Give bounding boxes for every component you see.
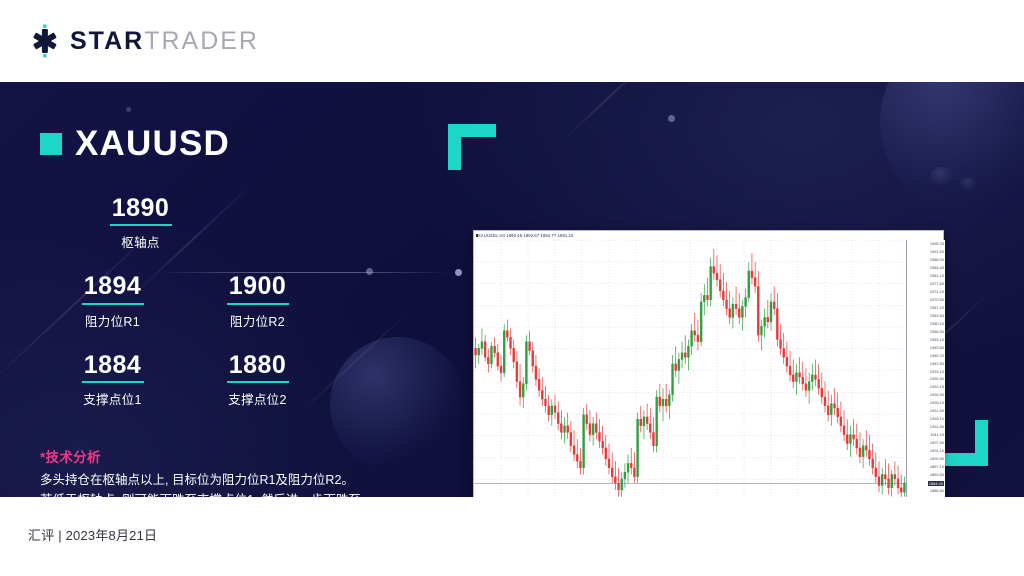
page-footer: 汇评 | 2023年8月21日	[0, 497, 1024, 576]
brand-name-light: TRADER	[144, 29, 259, 54]
level-value: 1894	[40, 273, 185, 299]
decor-dot	[668, 115, 675, 122]
levels-row-pivot: 1890 枢轴点	[40, 195, 330, 251]
price-tick-label: 1907.50	[930, 440, 944, 445]
level-underline	[82, 381, 144, 383]
chart-plot-area[interactable]	[474, 240, 906, 497]
price-tick-label: 1918.10	[930, 416, 944, 421]
decor-crater	[930, 167, 956, 185]
brand-name-bold: STAR	[70, 29, 144, 54]
price-tick-label: 1981.10	[930, 273, 944, 278]
level-underline	[227, 303, 289, 305]
price-tick-label: 1960.10	[930, 321, 944, 326]
levels-row-resistance: 1894 阻力位R1 1900 阻力位R2	[40, 273, 330, 329]
candlestick-series	[474, 240, 906, 497]
hero-left-column: XAUUSD 1890 枢轴点 1894 阻力位R1	[40, 126, 440, 497]
price-tick-label: 1904.10	[930, 448, 944, 453]
hero-band: XAUUSD 1890 枢轴点 1894 阻力位R1	[0, 82, 1024, 497]
price-tick-label: 1949.50	[930, 345, 944, 350]
level-label: 支撑点位2	[185, 389, 330, 408]
level-support-1: 1884 支撑点位1	[40, 352, 185, 408]
price-axis: 1995.251991.501988.001984.451981.101977.…	[906, 240, 945, 497]
price-tick-label: 1886.50	[930, 488, 944, 493]
levels-row-support: 1884 支撑点位1 1880 支撑点位2	[40, 352, 330, 408]
symbol-title-row: XAUUSD	[40, 126, 440, 161]
square-bullet-icon	[40, 133, 62, 155]
corner-bracket-top-left	[448, 124, 496, 170]
price-tick-label: 1946.20	[930, 353, 944, 358]
price-tick-label: 1984.45	[930, 265, 944, 270]
level-label: 阻力位R2	[185, 311, 330, 330]
level-underline	[227, 381, 289, 383]
brand-logo: STARTRADER	[28, 24, 259, 58]
price-tick-label: 1963.50	[930, 313, 944, 318]
level-value: 1890	[68, 195, 213, 221]
page-title: XAUUSD	[75, 126, 230, 161]
analysis-line: 若低于枢轴点, 则可能下跌至支撑点位1, 然后进一步下跌至	[40, 490, 412, 497]
level-value: 1900	[185, 273, 330, 299]
level-label: 支撑点位1	[40, 389, 185, 408]
analysis-heading: *技术分析	[40, 446, 412, 466]
price-tick-label: 1974.20	[930, 289, 944, 294]
spacer	[40, 251, 330, 273]
level-pivot: 1890 枢轴点	[68, 195, 213, 251]
analysis-line: 多头持仓在枢轴点以上, 目标位为阻力位R1及阻力位R2。	[40, 470, 412, 490]
price-tick-label: 1967.20	[930, 305, 944, 310]
analysis-block: *技术分析 多头持仓在枢轴点以上, 目标位为阻力位R1及阻力位R2。 若低于枢轴…	[40, 446, 412, 497]
level-value: 1884	[40, 352, 185, 378]
price-tick-label: 1956.50	[930, 329, 944, 334]
corner-bracket-bottom-right	[938, 420, 988, 466]
price-tick-label: 1900.50	[930, 456, 944, 461]
decor-dot	[126, 107, 131, 112]
price-tick-label: 1995.25	[930, 241, 944, 246]
price-tick-label: 1939.10	[930, 369, 944, 374]
decor-crater	[960, 177, 978, 190]
level-underline	[82, 303, 144, 305]
price-tick-label: 1935.50	[930, 376, 944, 381]
price-levels: 1890 枢轴点 1894 阻力位R1 1900 阻力位R2	[40, 195, 330, 408]
decor-connector-node	[455, 269, 462, 276]
level-resistance-2: 1900 阻力位R2	[185, 273, 330, 329]
analysis-body: 多头持仓在枢轴点以上, 目标位为阻力位R1及阻力位R2。 若低于枢轴点, 则可能…	[40, 470, 412, 497]
price-tick-label: 1921.50	[930, 408, 944, 413]
level-support-2: 1880 支撑点位2	[185, 352, 330, 408]
footer-caption: 汇评 | 2023年8月21日	[28, 525, 157, 544]
price-tick-label: 1970.50	[930, 297, 944, 302]
spacer	[40, 330, 330, 352]
level-underline	[110, 224, 172, 226]
page-header: STARTRADER	[0, 0, 1024, 82]
price-tick-label: 1893.50	[930, 472, 944, 477]
price-tick-label: 1988.00	[930, 257, 944, 262]
level-value: 1880	[185, 352, 330, 378]
price-chart[interactable]: XAUUSDc,H4 1890.46 1892.67 1884.77 1891.…	[473, 230, 944, 497]
slide-root: STARTRADER	[0, 0, 1024, 576]
price-tick-label: 1942.50	[930, 361, 944, 366]
price-tick-label: 1911.15	[930, 432, 944, 437]
level-label: 阻力位R1	[40, 311, 185, 330]
price-tick-label: 1932.15	[930, 384, 944, 389]
price-tick-label: 1925.10	[930, 400, 944, 405]
price-tick-label: 1953.15	[930, 337, 944, 342]
price-tick-label: 1977.60	[930, 281, 944, 286]
chart-title: XAUUSDc,H4 1890.46 1892.67 1884.77 1891.…	[478, 232, 573, 239]
current-price-label: 1884.43	[928, 481, 944, 486]
level-resistance-1: 1894 阻力位R1	[40, 273, 185, 329]
level-label: 枢轴点	[68, 232, 213, 251]
price-tick-label: 1928.50	[930, 392, 944, 397]
price-tick-label: 1914.50	[930, 424, 944, 429]
price-tick-label: 1991.50	[930, 249, 944, 254]
brand-wordmark: STARTRADER	[70, 29, 259, 54]
price-tick-label: 1897.10	[930, 464, 944, 469]
asterisk-star-icon	[28, 24, 62, 58]
